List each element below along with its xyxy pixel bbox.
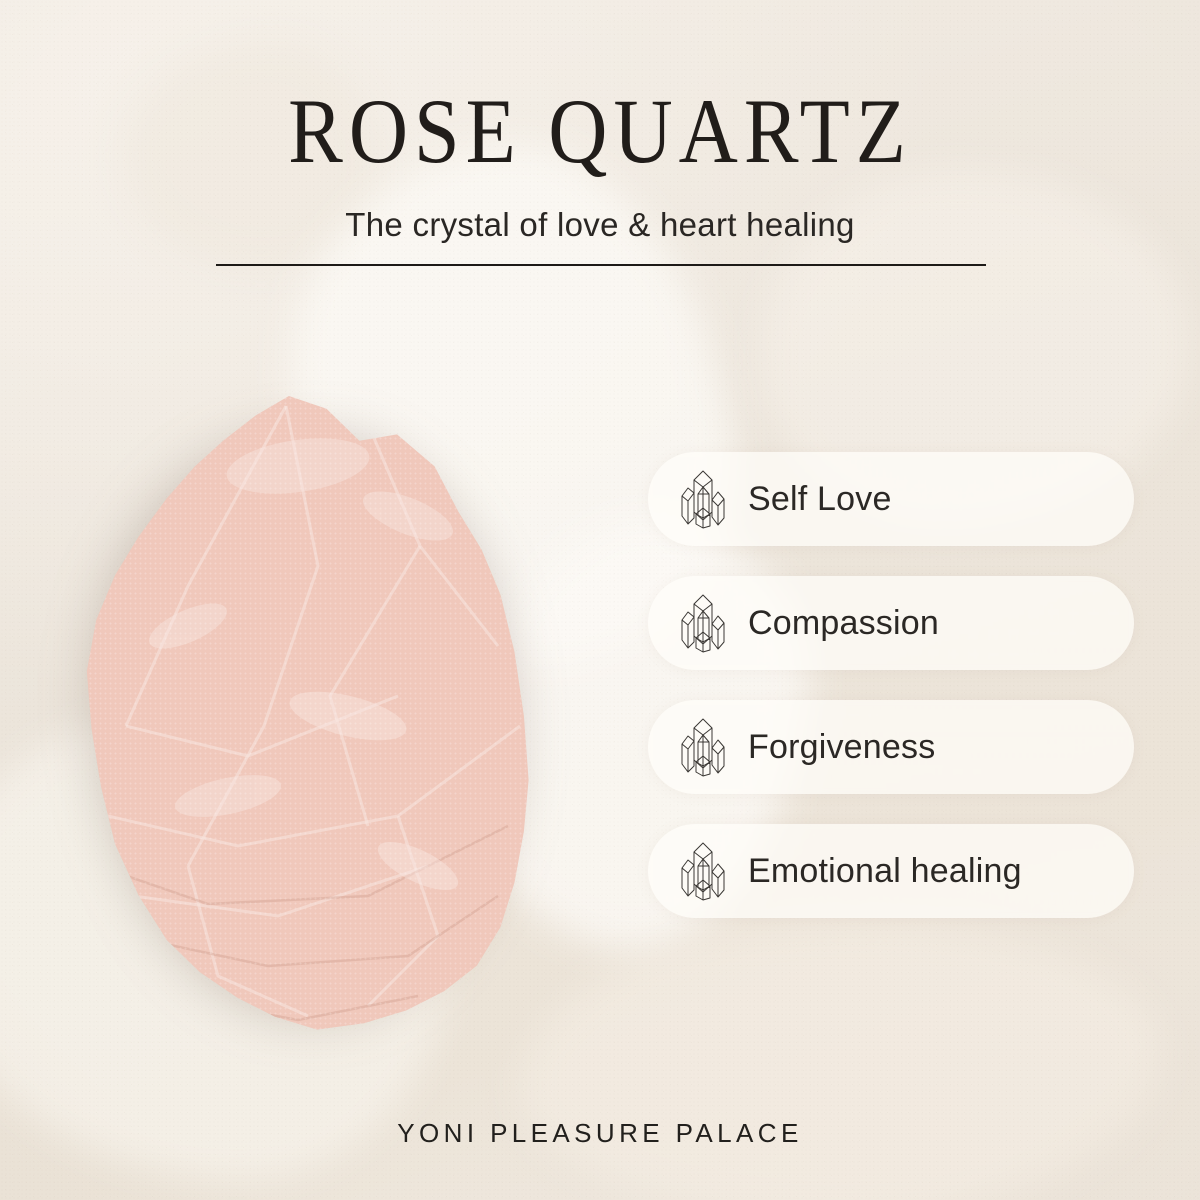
header-divider <box>216 264 986 266</box>
benefit-pill-emotional-healing[interactable]: Emotional healing <box>648 824 1134 918</box>
header: ROSE QUARTZ The crystal of love & heart … <box>0 86 1200 244</box>
crystal-cluster-icon <box>674 592 732 654</box>
rose-quartz-stone <box>68 396 538 1036</box>
stone-image-container <box>68 396 538 1036</box>
benefit-label: Emotional healing <box>748 852 1022 891</box>
crystal-cluster-icon <box>674 468 732 530</box>
page-title: ROSE QUARTZ <box>0 86 1200 178</box>
crystal-cluster-icon <box>674 716 732 778</box>
benefit-pill-compassion[interactable]: Compassion <box>648 576 1134 670</box>
benefit-pill-forgiveness[interactable]: Forgiveness <box>648 700 1134 794</box>
benefits-list: Self Love <box>648 452 1134 918</box>
benefit-label: Compassion <box>748 604 939 643</box>
benefit-pill-self-love[interactable]: Self Love <box>648 452 1134 546</box>
benefit-label: Forgiveness <box>748 728 935 767</box>
stone-texture-grain <box>68 396 538 1036</box>
crystal-cluster-icon <box>674 840 732 902</box>
rose-quartz-poster: ROSE QUARTZ The crystal of love & heart … <box>0 0 1200 1200</box>
brand-footer: YONI PLEASURE PALACE <box>0 1118 1200 1149</box>
benefit-label: Self Love <box>748 480 892 519</box>
